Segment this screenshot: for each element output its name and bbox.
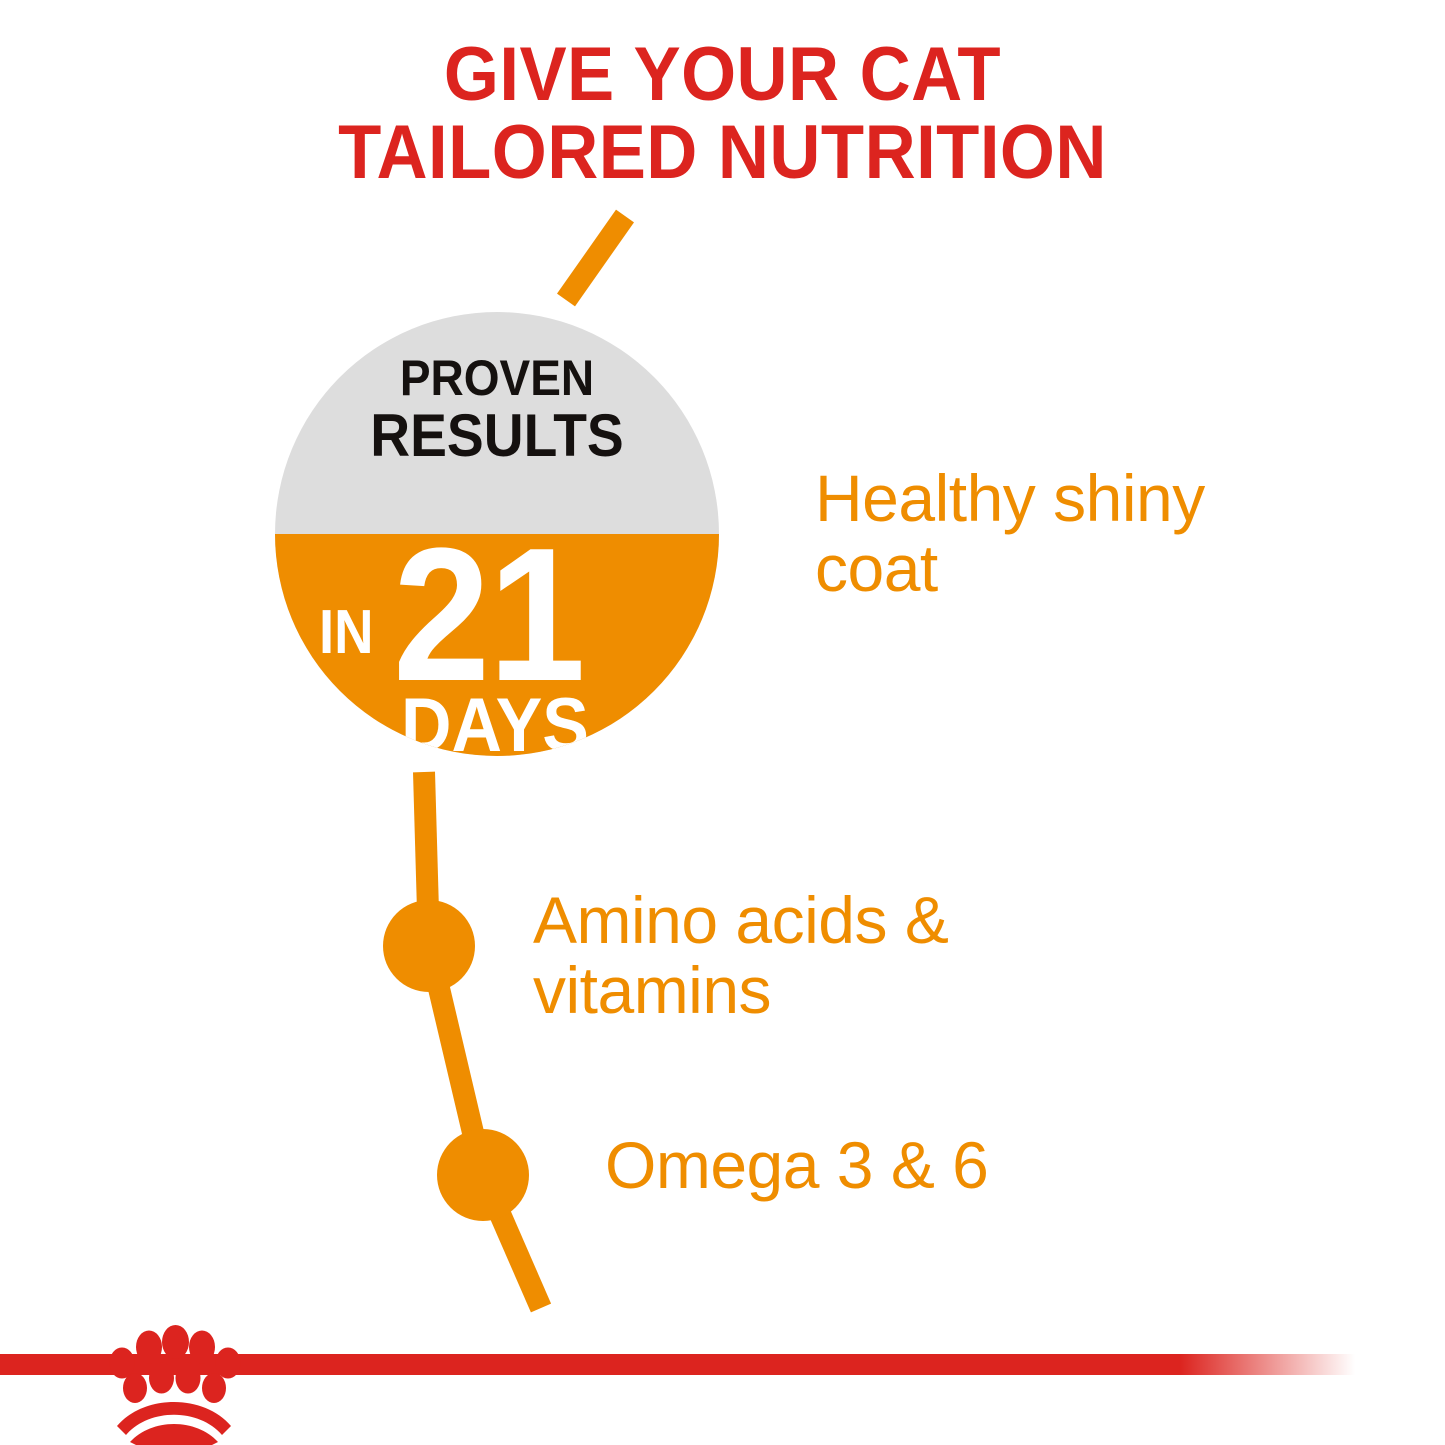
royal-canin-crown-icon — [104, 1318, 244, 1445]
headline-line-2: TAILORED NUTRITION — [51, 114, 1395, 192]
connector-node-2 — [437, 1129, 529, 1221]
connector-graphic — [0, 0, 1445, 1445]
benefit-1-line-1: Amino acids & — [533, 885, 948, 955]
connector-segment-3 — [483, 1175, 541, 1308]
badge-results-label: RESULTS — [293, 407, 701, 464]
headline-line-1: GIVE YOUR CAT — [51, 36, 1395, 114]
benefit-label-amino-acids-vitamins: Amino acids & vitamins — [533, 885, 948, 1025]
badge-top-text: PROVEN RESULTS — [293, 350, 701, 464]
badge-prefix-label: IN — [319, 602, 374, 664]
badge-lower-text: IN 21 DAYS — [275, 534, 719, 756]
connector-segment-2 — [429, 946, 483, 1175]
badge-unit-label: DAYS — [401, 688, 589, 756]
benefit-label-omega-3-6: Omega 3 & 6 — [605, 1130, 988, 1200]
proven-results-badge: PROVEN RESULTS IN 21 DAYS — [275, 312, 719, 756]
benefit-0-line-2: coat — [815, 533, 1205, 603]
benefit-1-line-2: vitamins — [533, 955, 948, 1025]
badge-proven-label: PROVEN — [293, 350, 701, 407]
badge-number: 21 — [393, 520, 584, 710]
connector-node-1 — [383, 900, 475, 992]
page-title: GIVE YOUR CAT TAILORED NUTRITION — [51, 36, 1395, 192]
benefit-2-line-1: Omega 3 & 6 — [605, 1130, 988, 1200]
connector-segment-1 — [424, 772, 429, 946]
infographic-canvas: GIVE YOUR CAT TAILORED NUTRITION PROVEN … — [0, 0, 1445, 1445]
benefit-label-healthy-shiny-coat: Healthy shiny coat — [815, 463, 1205, 603]
connector-tick-top — [566, 216, 625, 300]
benefit-0-line-1: Healthy shiny — [815, 463, 1205, 533]
